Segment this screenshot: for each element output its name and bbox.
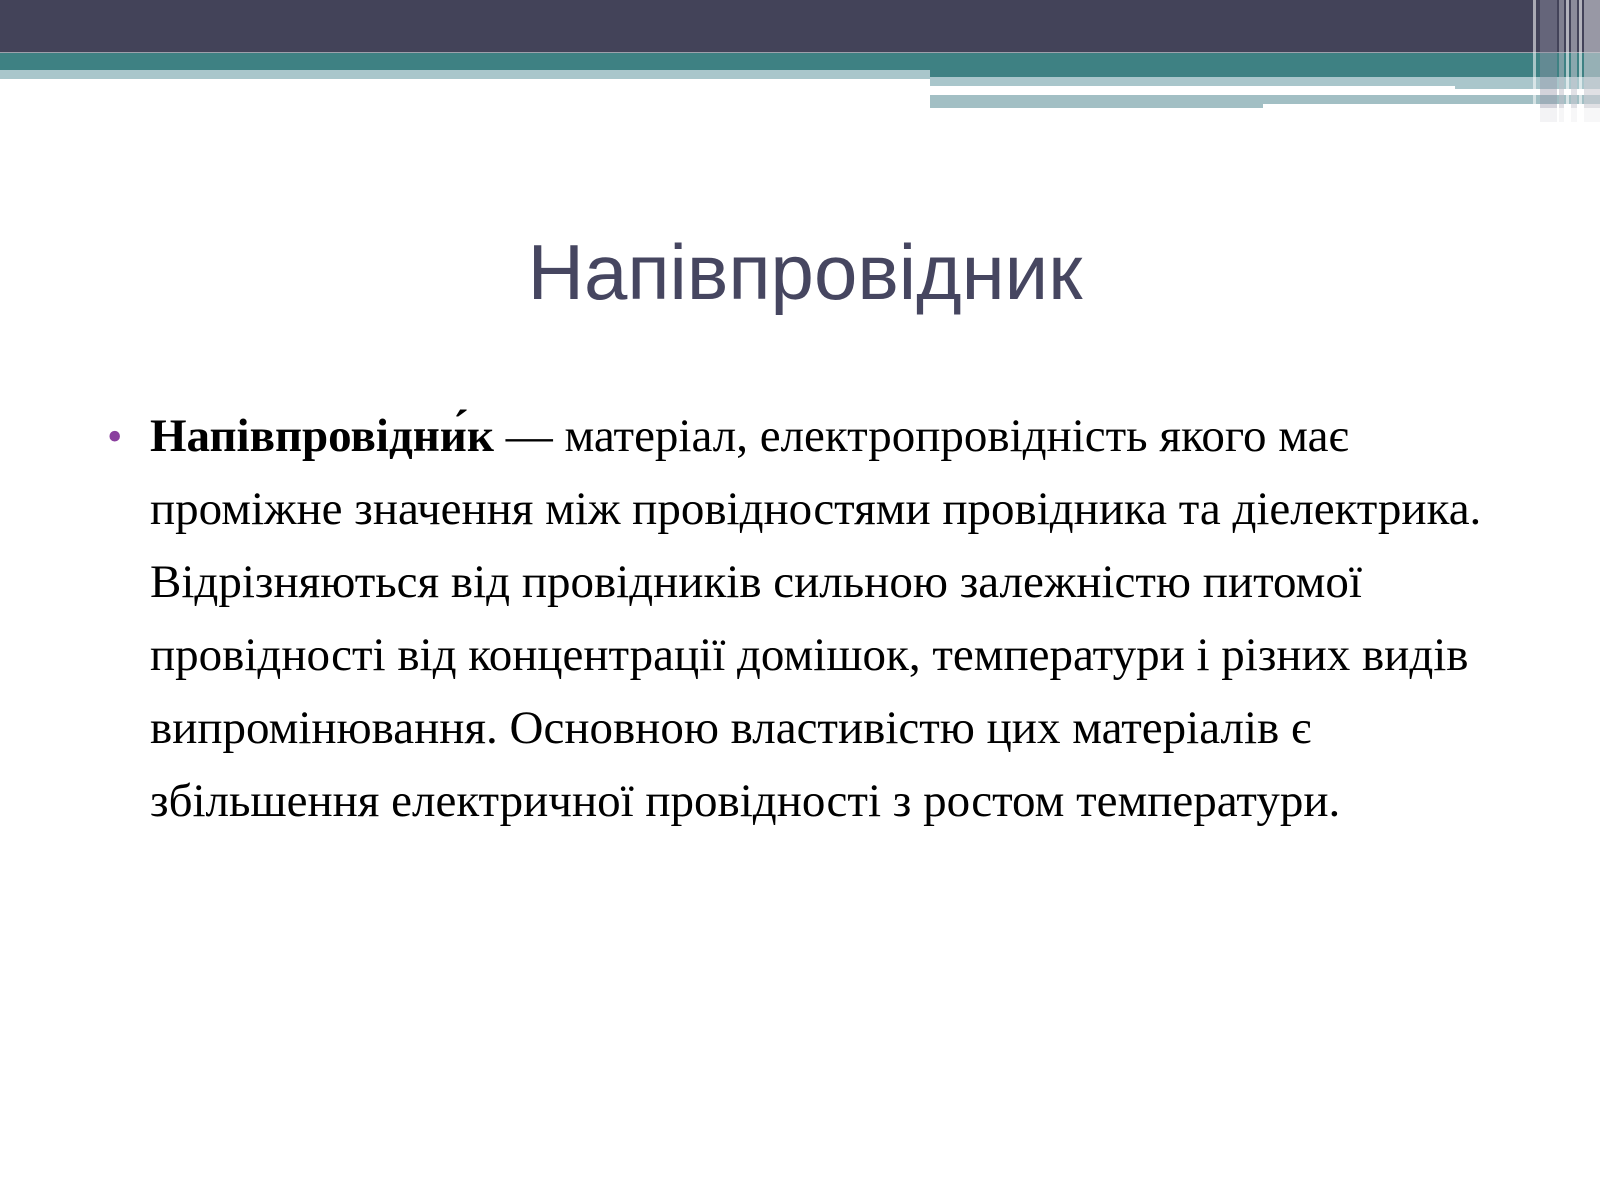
- banner-vertical-stripe: [1579, 0, 1582, 122]
- banner-vertical-stripe: [1571, 0, 1577, 122]
- slide-body: • Напівпровідни́к — матеріал, електропро…: [95, 400, 1490, 838]
- banner-white-gap-upper: [930, 86, 1455, 95]
- banner-dark-block: [0, 0, 1600, 53]
- banner-vertical-stripe: [1559, 0, 1564, 122]
- banner-vertical-stripe: [1540, 0, 1557, 122]
- banner-vertical-stripe: [1533, 0, 1536, 122]
- bullet-definition-text: — матеріал, електропровідність якого має…: [150, 410, 1481, 827]
- presentation-slide: Напівпровідник • Напівпровідни́к — матер…: [0, 0, 1600, 1200]
- bullet-item-text: Напівпровідни́к — матеріал, електропрові…: [150, 400, 1490, 838]
- banner-pale-band-left: [0, 70, 930, 79]
- banner-vertical-stripe: [1584, 0, 1600, 122]
- bullet-point-icon: •: [95, 400, 150, 473]
- bullet-list-item: • Напівпровідни́к — матеріал, електропро…: [95, 400, 1490, 838]
- banner-teal-band-right: [930, 53, 1600, 77]
- slide-title: Напівпровідник: [120, 232, 1490, 314]
- banner-stripe-fade: [1533, 108, 1600, 122]
- slide-header-decoration: [0, 0, 1600, 122]
- banner-vertical-stripe: [1566, 0, 1569, 122]
- bullet-lead-term: Напівпровідни́к: [150, 410, 494, 462]
